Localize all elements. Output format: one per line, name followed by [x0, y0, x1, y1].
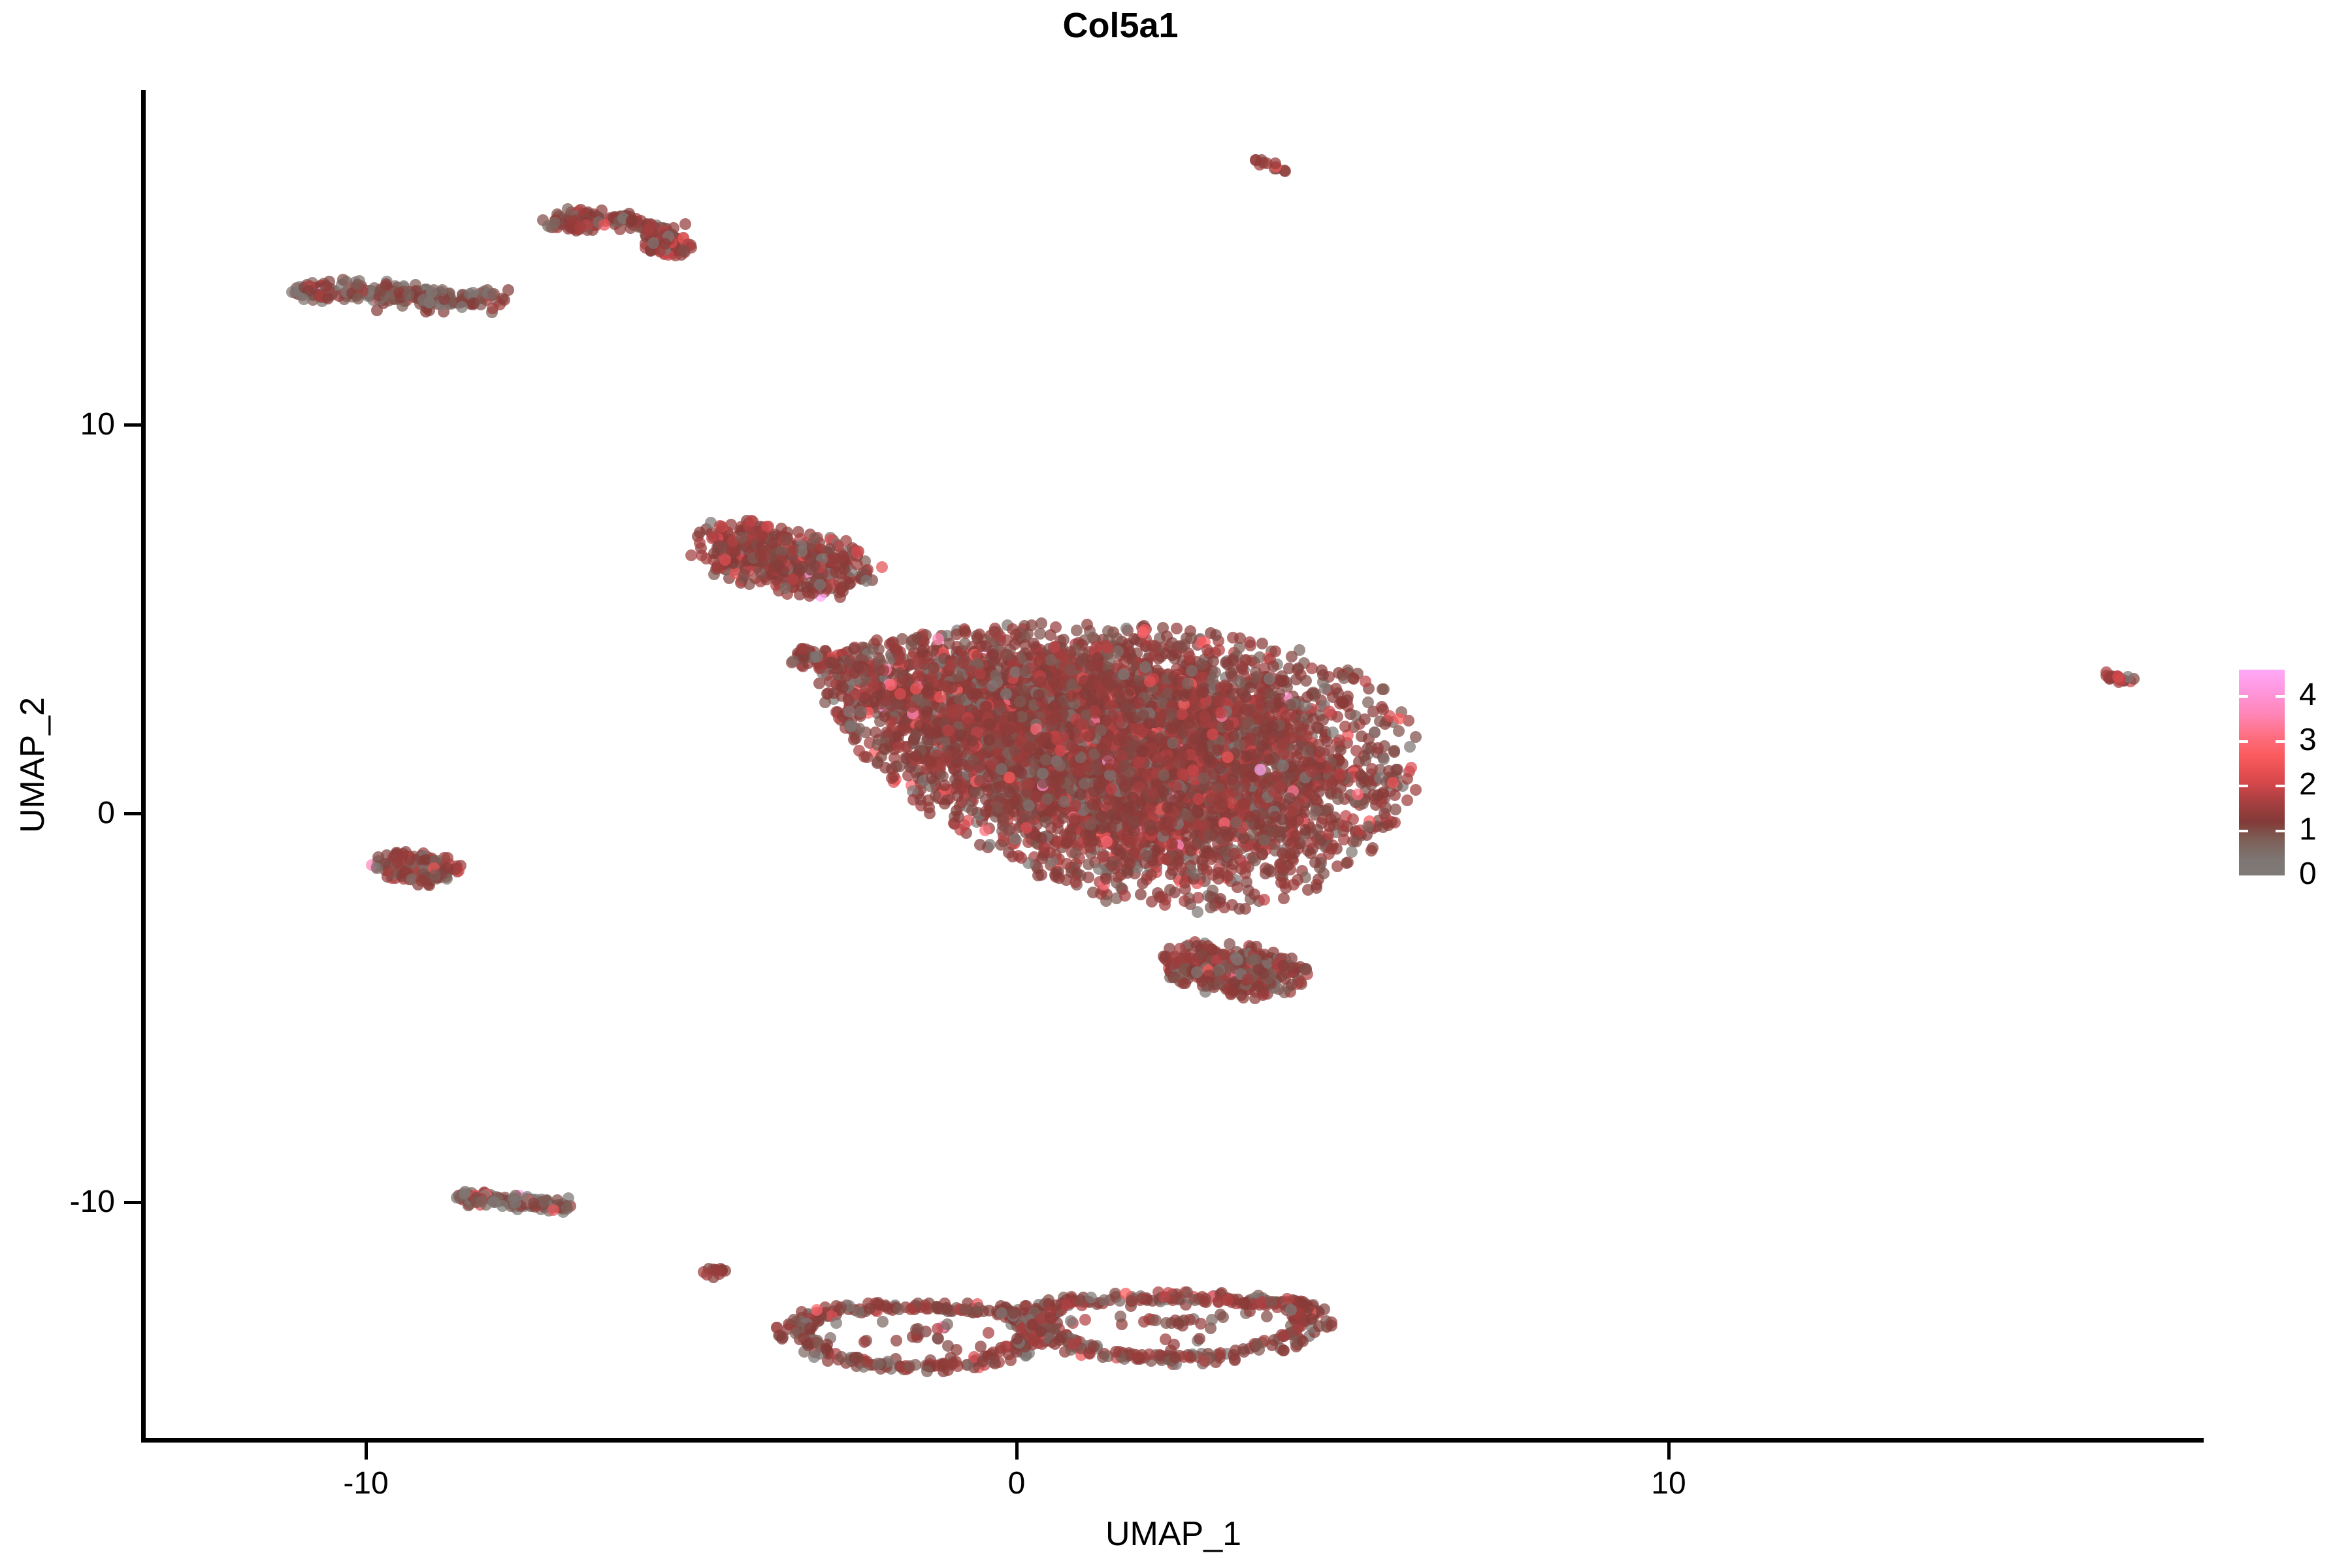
scatter-point — [890, 1335, 902, 1347]
scatter-point — [808, 1351, 820, 1363]
scatter-point — [352, 293, 364, 304]
scatter-point — [1404, 741, 1416, 753]
scatter-point — [561, 1203, 573, 1215]
scatter-point — [1138, 1316, 1150, 1328]
scatter-point — [975, 1341, 987, 1352]
scatter-point — [1232, 881, 1243, 893]
scatter-point — [1365, 845, 1377, 857]
scatter-point — [1291, 1324, 1303, 1335]
scatter-point — [802, 1339, 814, 1351]
scatter-point — [1079, 1314, 1091, 1326]
scatter-point — [1374, 715, 1386, 727]
scatter-point — [679, 218, 691, 230]
scatter-point — [830, 1300, 842, 1312]
scatter-point — [1261, 1311, 1273, 1322]
scatter-point — [1285, 1304, 1297, 1316]
scatter-point — [546, 221, 557, 233]
scatter-point — [404, 854, 416, 866]
scatter-point — [1239, 1297, 1250, 1309]
scatter-point — [983, 1327, 994, 1339]
scatter-point — [1119, 890, 1131, 902]
scatter-point — [429, 870, 441, 881]
scatter-point — [2100, 670, 2112, 681]
scatter-point — [1194, 1333, 1205, 1345]
scatter-point — [1253, 1344, 1265, 1356]
scatter-point — [322, 293, 334, 304]
scatter-point — [1160, 1317, 1172, 1329]
scatter-point — [830, 1317, 842, 1329]
scatter-point — [402, 289, 414, 301]
scatter-point — [1269, 157, 1281, 169]
scatter-point — [921, 1365, 933, 1377]
scatter-point — [1297, 1335, 1309, 1347]
scatter-point — [1158, 1291, 1170, 1303]
scatter-point — [1196, 1291, 1208, 1303]
scatter-point — [1305, 1313, 1317, 1325]
scatter-point — [951, 1344, 962, 1356]
scatter-point — [1326, 1320, 1337, 1331]
scatter-point — [864, 1303, 875, 1315]
scatter-point — [1278, 892, 1290, 904]
scatter-point — [877, 1316, 889, 1328]
scatter-point — [1281, 1293, 1293, 1305]
scatter-point — [1065, 1315, 1077, 1327]
scatter-point — [1250, 154, 1262, 166]
scatter-point — [893, 1303, 905, 1315]
scatter-point — [713, 1268, 725, 1280]
scatter-point — [1109, 1288, 1121, 1299]
scatter-point — [598, 219, 610, 231]
scatter-point — [1083, 1347, 1095, 1359]
scatter-point — [776, 1333, 788, 1345]
scatter-point — [985, 1348, 997, 1360]
scatter-point — [924, 808, 936, 819]
scatter-point — [1150, 1315, 1162, 1326]
scatter-point — [1199, 1355, 1211, 1367]
scatter-point — [910, 1324, 922, 1335]
scatter-point — [1130, 1349, 1142, 1361]
scatter-point — [1173, 1318, 1184, 1330]
scatter-point — [1169, 1352, 1181, 1364]
scatter-point — [983, 1305, 995, 1316]
scatter-point — [1181, 1286, 1193, 1298]
scatter-point — [678, 245, 690, 257]
scatter-point — [952, 1360, 964, 1372]
scatter-point — [1035, 1326, 1047, 1337]
scatter-point — [1206, 1314, 1218, 1326]
scatter-point — [1278, 1330, 1290, 1342]
scatter-point — [486, 288, 498, 300]
scatter-point — [1007, 1307, 1019, 1319]
scatter-point — [659, 238, 671, 250]
scatter-point — [528, 1198, 540, 1209]
scatter-point — [804, 1322, 816, 1334]
scatter-point — [456, 301, 468, 313]
scatter-point — [941, 1318, 953, 1330]
scatter-point — [475, 299, 487, 310]
scatter-point — [371, 304, 383, 316]
scatter-point — [1215, 1347, 1226, 1359]
scatter-point — [547, 1204, 559, 1216]
scatter-point — [371, 862, 383, 874]
scatter-point — [416, 875, 427, 887]
scatter-point — [436, 284, 448, 296]
scatter-point — [1290, 674, 1302, 685]
scatter-point — [1160, 1333, 1171, 1345]
scatter-point — [1401, 794, 1413, 806]
scatter-point — [1222, 1294, 1233, 1306]
scatter-point — [811, 1304, 823, 1316]
scatter-point — [852, 1352, 864, 1364]
umap-feature-plot: Col5a1 -10 0 10 10 0 -10 UMAP_1 UMAP_2 4… — [0, 0, 2352, 1568]
scatter-point — [1098, 1294, 1110, 1306]
scatter-point — [1217, 1311, 1229, 1323]
scatter-point — [298, 293, 310, 305]
scatter-point — [286, 286, 298, 298]
scatter-point — [1171, 623, 1183, 634]
scatter-point — [1071, 625, 1083, 636]
page-title: Col5a1 — [0, 5, 2241, 46]
scatter-point — [858, 1336, 870, 1348]
scatter-plot-panel — [144, 90, 2203, 1440]
scatter-point — [905, 1303, 917, 1315]
scatter-point — [959, 1303, 971, 1315]
scatter-point — [1011, 1333, 1023, 1345]
scatter-point — [1229, 1354, 1241, 1366]
scatter-point — [1110, 1346, 1122, 1358]
scatter-point — [498, 294, 510, 306]
scatter-point — [853, 1306, 864, 1318]
